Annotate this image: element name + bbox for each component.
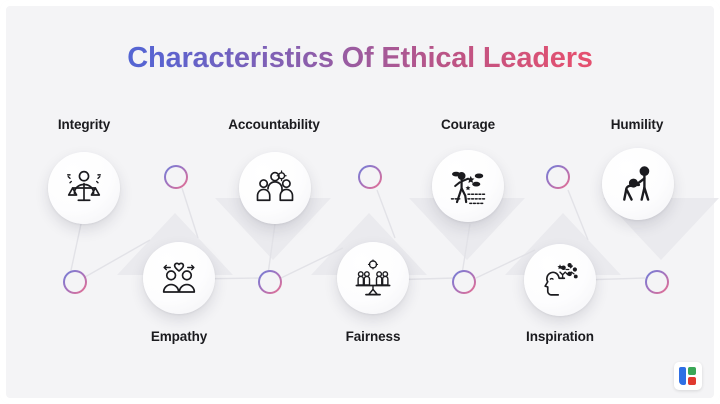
- logo-blue-bar: [679, 367, 686, 385]
- label-integrity: Integrity: [14, 117, 154, 132]
- connector-node[interactable]: [164, 165, 188, 189]
- label-courage: Courage: [398, 117, 538, 132]
- icon-bubble-courage[interactable]: [432, 150, 504, 222]
- person-helping-person-up-icon: [616, 162, 660, 206]
- connector-node[interactable]: [63, 270, 87, 294]
- brand-logo[interactable]: [674, 362, 702, 390]
- label-inspiration: Inspiration: [490, 329, 630, 344]
- label-accountability: Accountability: [204, 117, 344, 132]
- label-fairness: Fairness: [303, 329, 443, 344]
- logo-green-square: [688, 367, 696, 375]
- group-of-people-icon: [254, 167, 296, 209]
- icon-bubble-accountability[interactable]: [239, 152, 311, 224]
- icon-bubble-fairness[interactable]: [337, 242, 409, 314]
- two-people-with-heart-icon: [158, 257, 200, 299]
- page-title: Characteristics Of Ethical Leaders: [0, 42, 720, 75]
- icon-bubble-empathy[interactable]: [143, 242, 215, 314]
- icon-bubble-inspiration[interactable]: [524, 244, 596, 316]
- head-with-ideas-icon: [539, 259, 581, 301]
- slide-canvas: Characteristics Of Ethical Leaders Integ…: [0, 0, 720, 404]
- connector-node[interactable]: [645, 270, 669, 294]
- people-on-balance-scale-icon: [352, 257, 394, 299]
- scales-of-justice-person-icon: [63, 167, 105, 209]
- connector-node[interactable]: [358, 165, 382, 189]
- connector-node[interactable]: [452, 270, 476, 294]
- icon-bubble-humility[interactable]: [602, 148, 674, 220]
- logo-red-square: [688, 377, 696, 385]
- connector-node[interactable]: [546, 165, 570, 189]
- person-reaching-for-stars-icon: [446, 164, 490, 208]
- icon-bubble-integrity[interactable]: [48, 152, 120, 224]
- label-humility: Humility: [567, 117, 707, 132]
- label-empathy: Empathy: [109, 329, 249, 344]
- connector-node[interactable]: [258, 270, 282, 294]
